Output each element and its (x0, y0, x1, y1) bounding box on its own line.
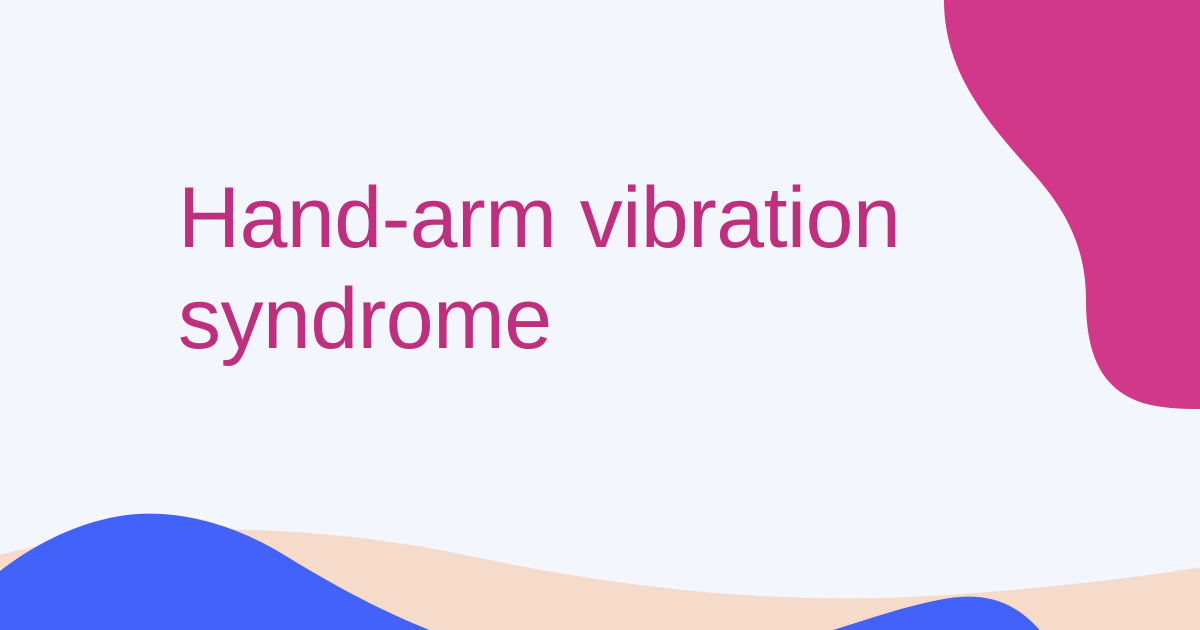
title-block: Hand-arm vibration syndrome (178, 168, 938, 369)
bottom-right-blue-wave (800, 597, 1048, 630)
bottom-left-blue-wave (0, 514, 448, 630)
top-right-pink-blob (944, 0, 1200, 409)
page-title: Hand-arm vibration syndrome (178, 168, 938, 369)
bottom-peach-wave (0, 529, 1200, 630)
social-card-canvas: Hand-arm vibration syndrome (0, 0, 1200, 630)
